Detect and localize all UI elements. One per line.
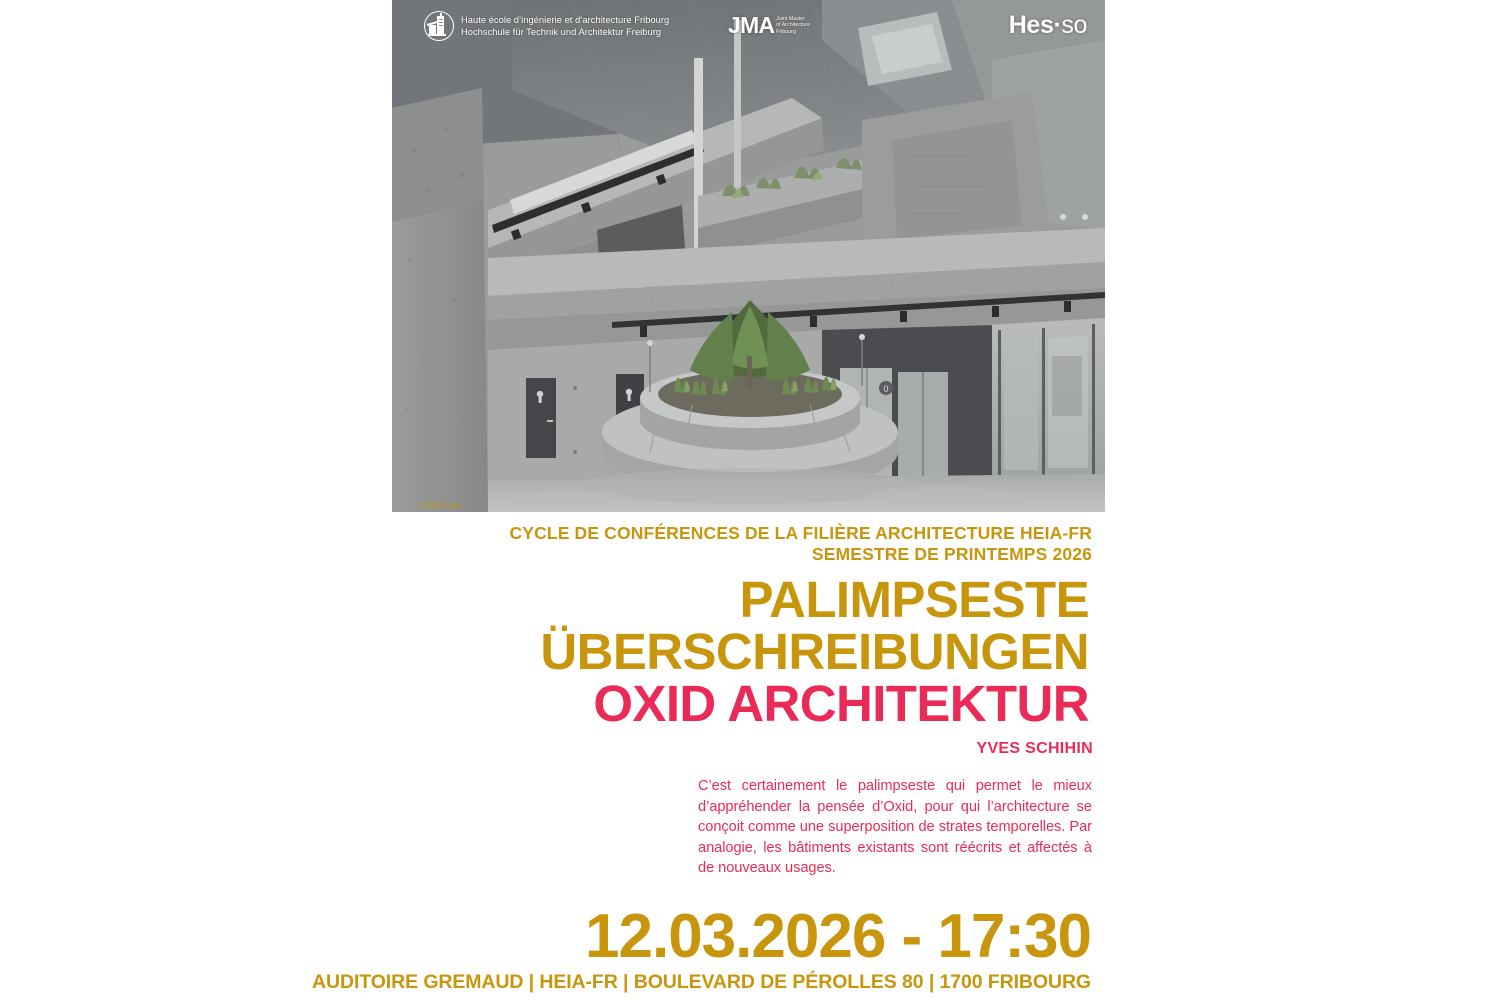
photo-credit: © R&D Dürr [418, 501, 462, 511]
title-line-palimpseste: PALIMPSESTE [739, 571, 1089, 628]
poster-title-gold: PALIMPSESTE ÜBERSCHREIBUNGEN [0, 574, 1089, 678]
abstract-paragraph: C’est certainement le palimpseste qui pe… [698, 776, 1092, 879]
conference-poster: 0 [0, 0, 1500, 1000]
speaker-name: YVES SCHIHIN [0, 739, 1093, 758]
series-header: CYCLE DE CONFÉRENCES DE LA FILIÈRE ARCHI… [0, 523, 1092, 564]
svg-text:0: 0 [883, 384, 888, 394]
hero-photograph: 0 [392, 0, 1105, 512]
title-line-ueberschreibungen: ÜBERSCHREIBUNGEN [540, 623, 1089, 680]
series-header-line2: SEMESTRE DE PRINTEMPS 2026 [812, 544, 1092, 564]
atrium-photo-illustration: 0 [392, 0, 1105, 512]
series-header-line1: CYCLE DE CONFÉRENCES DE LA FILIÈRE ARCHI… [509, 523, 1092, 543]
event-datetime: 12.03.2026 - 17:30 [0, 904, 1091, 970]
event-venue: AUDITOIRE GREMAUD | HEIA-FR | BOULEVARD … [0, 970, 1091, 994]
poster-title-pink: OXID ARCHITEKTUR [0, 678, 1089, 730]
